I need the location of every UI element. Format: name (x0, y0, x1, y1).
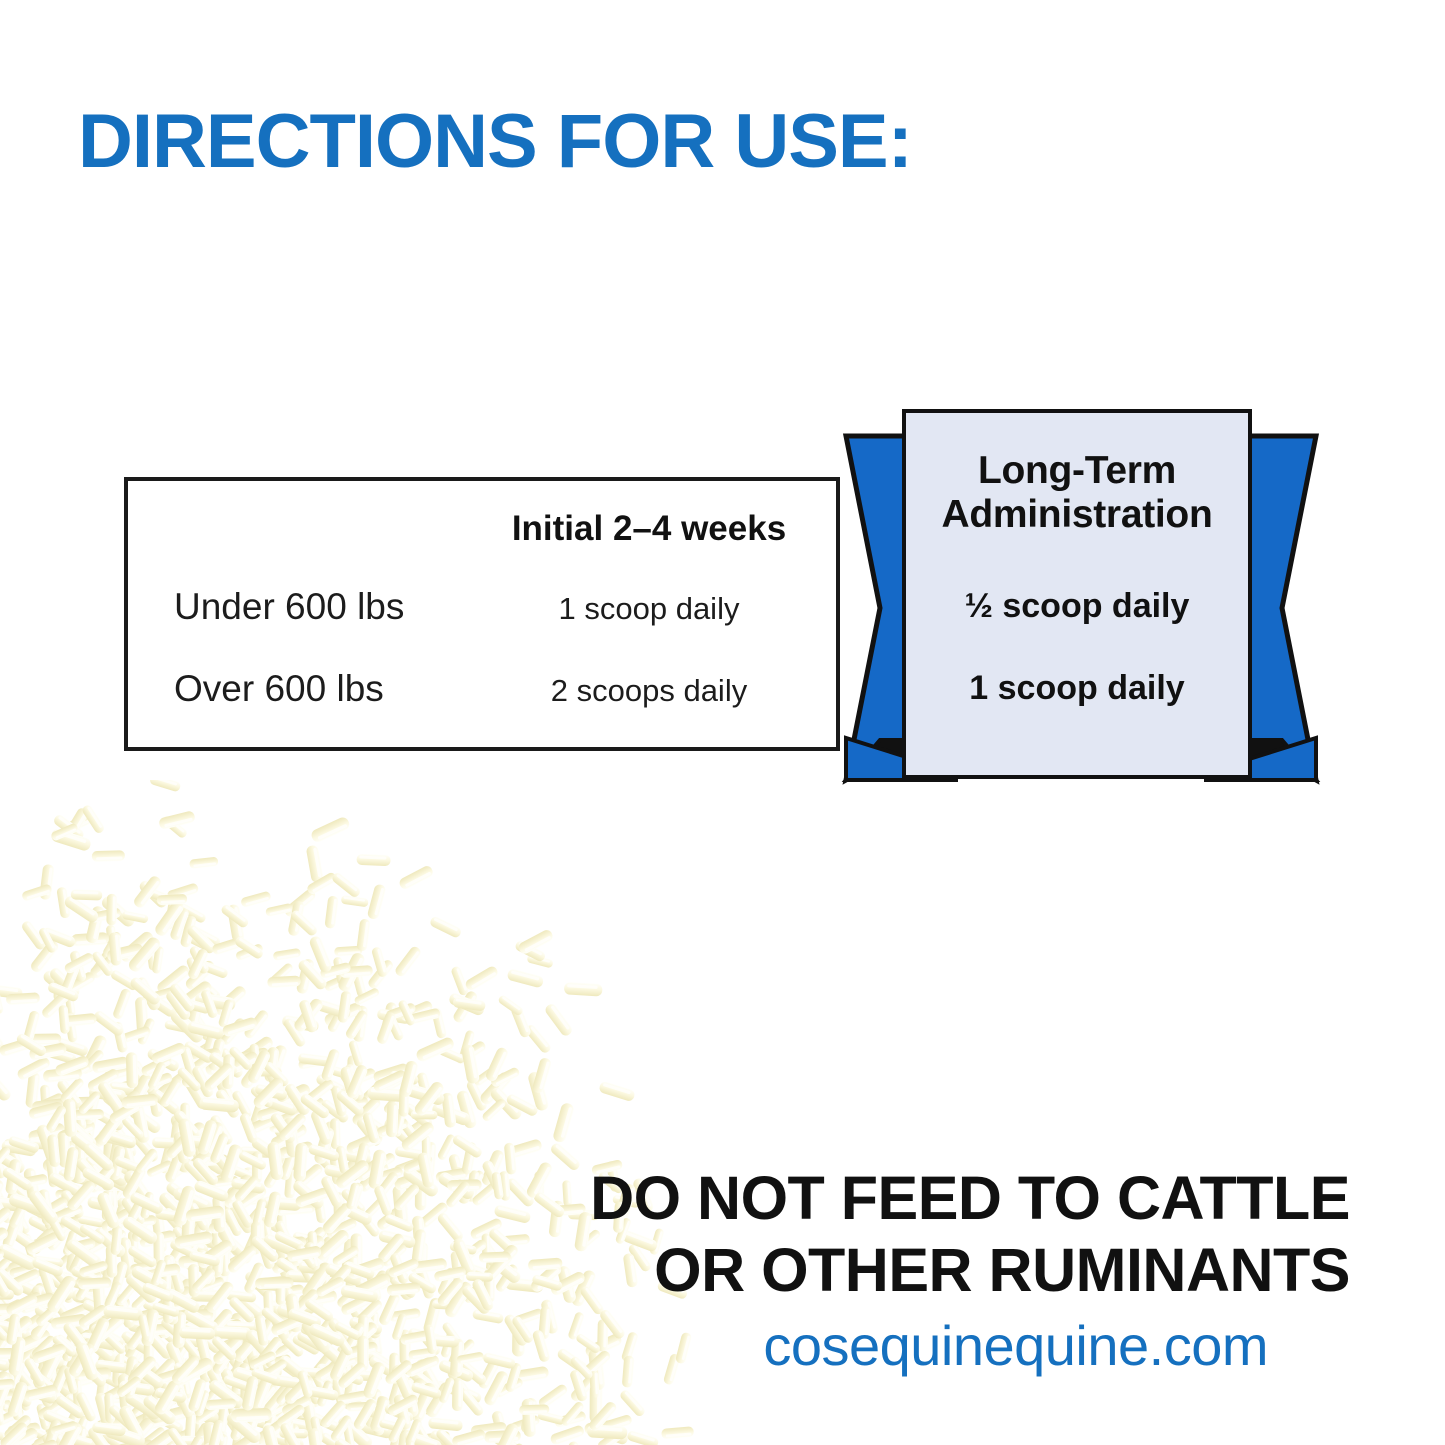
pellet (436, 1133, 456, 1161)
pellet (269, 1122, 301, 1133)
pellet (179, 1046, 198, 1080)
pellet (251, 1383, 262, 1411)
pellet (219, 1016, 247, 1046)
pellet (62, 806, 90, 843)
pellet (249, 1376, 273, 1413)
pellet (168, 982, 196, 1014)
pellet (75, 1391, 98, 1423)
pellet (200, 1120, 225, 1158)
pellet (100, 894, 137, 929)
pellet (56, 887, 71, 919)
pellet (128, 975, 162, 1006)
pellet (69, 1095, 88, 1132)
pellet (41, 926, 76, 948)
pellet (353, 987, 380, 1006)
pellet (193, 1413, 204, 1441)
pellet (292, 996, 325, 1033)
pellet (484, 1430, 521, 1444)
pellet (0, 1380, 36, 1415)
pellet (301, 1394, 319, 1433)
pellet (202, 1123, 226, 1159)
pellet (158, 1077, 183, 1109)
pellet (415, 1036, 456, 1064)
pellet (137, 1017, 157, 1046)
pellet (315, 1073, 348, 1097)
pellet (153, 1379, 182, 1417)
pellet (196, 1119, 218, 1156)
pellet (366, 958, 395, 990)
pellet (163, 1401, 206, 1424)
pellet (208, 1405, 236, 1422)
pellet (121, 1415, 157, 1445)
pellet (73, 1109, 104, 1120)
pellet (36, 1395, 69, 1421)
pellet (465, 1079, 488, 1112)
website-link[interactable]: cosequinequine.com (0, 1313, 1268, 1378)
pellet (64, 990, 76, 1017)
pellet (153, 899, 186, 938)
pellet (90, 946, 116, 977)
pellet (316, 1379, 334, 1407)
pellet (400, 1376, 420, 1418)
pellet (0, 1382, 8, 1415)
pellet (71, 889, 103, 900)
pellet (393, 945, 422, 979)
pellet (108, 1099, 143, 1126)
pellet (409, 1381, 438, 1424)
pellet (169, 1113, 193, 1151)
pellet (164, 1130, 193, 1160)
pellet (149, 985, 179, 1002)
pellet (28, 1042, 67, 1061)
pellet (171, 1120, 208, 1158)
pellet (54, 1394, 86, 1421)
pellet (80, 1034, 108, 1075)
pellet (23, 1010, 41, 1043)
pellet (422, 1135, 431, 1162)
pellet (39, 864, 55, 900)
pellet (95, 1383, 128, 1407)
pellet (0, 1430, 20, 1445)
pellet (264, 1044, 289, 1084)
pellet (41, 969, 76, 1002)
pellet (96, 1418, 124, 1430)
pellet (395, 1376, 428, 1415)
pellet (140, 1054, 173, 1078)
pellet (619, 1388, 647, 1418)
pellet (245, 1379, 279, 1417)
pellet (229, 1409, 248, 1441)
pellet (330, 871, 361, 899)
pellet (62, 1013, 97, 1027)
pellet (307, 1427, 325, 1445)
pellet (265, 1112, 292, 1146)
pellet (86, 1425, 115, 1445)
pellet (55, 1118, 96, 1145)
pellet (350, 1095, 382, 1127)
pellet (72, 1379, 82, 1407)
pellet (214, 1433, 229, 1445)
pellet (173, 1386, 195, 1419)
pellet (63, 1061, 92, 1083)
pellet (357, 1399, 390, 1415)
pellet (399, 1086, 410, 1116)
pellet (58, 1005, 70, 1034)
pellet (423, 1431, 450, 1443)
pellet (239, 1054, 271, 1091)
pellet (564, 982, 603, 997)
pellet (3, 1379, 33, 1409)
pellet (188, 945, 210, 975)
pellet (187, 1378, 207, 1413)
pellet (69, 950, 87, 983)
pellet (50, 822, 79, 841)
pellet (268, 1394, 301, 1425)
pellet (109, 1097, 144, 1111)
pellet (510, 1004, 532, 1039)
pellet (117, 1404, 146, 1444)
pellet (178, 1436, 217, 1445)
pellet (329, 1414, 353, 1443)
pellet (285, 1424, 300, 1445)
pellet (142, 989, 178, 1019)
pellet (537, 1383, 569, 1410)
pellet (262, 1060, 290, 1088)
pellet (504, 1138, 543, 1160)
pellet (143, 1435, 167, 1445)
pellet (195, 1437, 206, 1445)
pellet (478, 1424, 505, 1445)
pellet (0, 963, 1, 998)
pellet (66, 1130, 94, 1161)
pellet (104, 1423, 147, 1445)
pellet (324, 1121, 336, 1155)
pellet (396, 1429, 411, 1445)
pellet (456, 1089, 478, 1129)
pellet (339, 1065, 360, 1102)
pellet (164, 902, 177, 930)
pellet (77, 1090, 102, 1115)
pellet (251, 1076, 285, 1111)
pellet (239, 1112, 259, 1144)
pellet (116, 1439, 155, 1445)
pellet (108, 1134, 124, 1167)
pellet (240, 1411, 275, 1431)
pellet (88, 1085, 127, 1103)
pellet (236, 1404, 265, 1415)
pellet (208, 1417, 226, 1445)
pellet (63, 1392, 95, 1418)
pellet (140, 1427, 177, 1445)
pellet (369, 1395, 391, 1433)
pellet (296, 958, 328, 992)
pellet (315, 998, 352, 1020)
pellet (560, 1400, 586, 1427)
pellet (330, 1374, 349, 1408)
table-row-label-over-600: Over 600 lbs (174, 668, 384, 710)
pellet (61, 970, 96, 997)
pellet (105, 1392, 138, 1404)
pellet (203, 1380, 225, 1406)
pellet (537, 1410, 566, 1425)
pellet (190, 1046, 223, 1074)
pellet (205, 1056, 247, 1077)
pellet (104, 1393, 115, 1424)
pellet (326, 1004, 348, 1034)
pellet (184, 1412, 196, 1443)
pellet (0, 1390, 15, 1402)
pellet (61, 1097, 94, 1109)
pellet (214, 1088, 241, 1120)
pellet (139, 1412, 177, 1432)
pellet (438, 1045, 466, 1064)
pellet (6, 992, 40, 1005)
pellet (134, 975, 162, 1012)
pellet (330, 1118, 341, 1149)
pellet (249, 1043, 260, 1072)
pellet (211, 936, 245, 956)
pellet (0, 984, 23, 999)
pellet (92, 1056, 130, 1074)
pellet (52, 813, 86, 842)
pellet (92, 850, 125, 862)
pellet (408, 1007, 441, 1024)
pellet (240, 891, 272, 909)
pellet (0, 1439, 23, 1445)
pellet (187, 947, 210, 980)
pellet (129, 1059, 156, 1095)
pellet (406, 1440, 415, 1445)
pellet (337, 1390, 368, 1405)
pellet (161, 814, 189, 839)
pellet (91, 1429, 120, 1443)
pellet (372, 1069, 408, 1094)
pellet (0, 1037, 34, 1058)
pellet (132, 1401, 174, 1431)
pellet (41, 1432, 66, 1445)
pellet (63, 1117, 99, 1151)
pellet (141, 885, 171, 904)
pellet (192, 1424, 221, 1445)
pellet (115, 1375, 142, 1399)
pellet (61, 1431, 97, 1445)
pellet (267, 975, 301, 988)
pellet (239, 1146, 272, 1158)
pellet (378, 1418, 406, 1433)
pellet (126, 1052, 139, 1088)
pellet (330, 1085, 348, 1118)
pellet (222, 1054, 235, 1089)
pellet (434, 1427, 462, 1445)
pellet (552, 1102, 575, 1144)
ribbon-heading-line-1: Long-Term (978, 449, 1176, 492)
pellet (23, 1384, 59, 1403)
pellet (1, 1140, 37, 1157)
pellet (152, 946, 165, 974)
pellet (189, 1011, 214, 1042)
pellet (85, 905, 105, 944)
pellet (27, 1033, 61, 1045)
pellet (177, 1117, 196, 1157)
pellet (399, 1395, 435, 1416)
pellet (273, 948, 302, 961)
pellet (345, 1389, 382, 1420)
pellet (126, 1063, 155, 1093)
pellet (593, 1423, 629, 1445)
pellet (102, 931, 123, 958)
pellet (15, 1032, 48, 1058)
pellet (44, 1417, 57, 1445)
pellet (517, 928, 555, 956)
pellet (452, 997, 486, 1012)
pellet (73, 1129, 106, 1166)
pellet (298, 1056, 327, 1070)
pellet (324, 895, 338, 928)
pellet (213, 1429, 228, 1445)
pellet (91, 950, 115, 978)
pellet (448, 992, 486, 1017)
pellet (172, 1107, 196, 1139)
pellet (376, 1011, 397, 1045)
pellet (492, 1422, 520, 1445)
pellet (69, 1130, 106, 1163)
pellet (491, 1410, 510, 1445)
pellet (45, 1388, 58, 1421)
pellet (94, 1392, 114, 1429)
pellet (305, 1078, 336, 1106)
pellet (275, 1381, 298, 1407)
pellet (626, 1430, 659, 1445)
pellet (0, 1406, 25, 1427)
pellet (218, 1046, 245, 1079)
pellet (250, 1135, 286, 1165)
pellet (3, 1426, 40, 1445)
pellet (112, 1021, 129, 1053)
pellet (0, 1430, 2, 1445)
pellet (200, 988, 219, 1019)
pellet (235, 943, 264, 962)
pellet (0, 1426, 28, 1445)
pellet (237, 1034, 276, 1066)
pellet (121, 1025, 151, 1043)
pellet (23, 1384, 57, 1405)
pellet (344, 1009, 369, 1041)
pellet (135, 997, 149, 1034)
pellet (521, 1398, 536, 1437)
pellet (43, 1066, 83, 1083)
pellet (435, 1380, 465, 1398)
pellet (413, 1080, 446, 1118)
pellet (146, 943, 158, 971)
pellet (454, 1039, 487, 1065)
pellet (0, 1398, 3, 1427)
pellet (102, 1430, 133, 1445)
pellet (599, 1414, 633, 1433)
pellet (265, 903, 293, 917)
pellet (271, 1082, 312, 1110)
pellet (490, 1066, 521, 1088)
pellet (0, 1067, 13, 1103)
pellet (448, 1438, 483, 1445)
pellet (269, 1111, 298, 1145)
pellet (172, 1109, 202, 1142)
ribbon-dose-under-600: ½ scoop daily (906, 587, 1248, 626)
pellet (289, 909, 319, 938)
pellet (319, 962, 351, 980)
pellet (394, 1145, 427, 1160)
pellet (38, 927, 58, 955)
pellet (2, 1413, 33, 1441)
pellet (118, 929, 156, 964)
pellet (531, 1057, 552, 1094)
pellet (271, 1432, 305, 1445)
pellet (412, 1421, 433, 1445)
pellet (0, 1378, 15, 1391)
pellet (241, 1375, 259, 1411)
pellet (282, 1017, 307, 1048)
pellet (269, 962, 295, 986)
pellet (249, 1085, 274, 1109)
pellet (336, 1414, 375, 1445)
pellet (107, 1122, 138, 1160)
pellet (107, 1403, 138, 1432)
pellet (309, 1108, 333, 1146)
pellet (251, 1398, 289, 1425)
pellet (306, 871, 338, 896)
dosage-table: Initial 2–4 weeks Under 600 lbs 1 scoop … (124, 477, 840, 751)
pellet (100, 1417, 135, 1429)
pellet (155, 963, 192, 996)
pellet (175, 1128, 211, 1157)
pellet (319, 1399, 348, 1430)
pellet (283, 1373, 316, 1406)
pellet (63, 1098, 78, 1137)
pellet (284, 1416, 294, 1445)
pellet (310, 1416, 324, 1444)
pellet (125, 1072, 154, 1112)
pellet (386, 1428, 406, 1445)
pellet (187, 1020, 225, 1040)
pellet (79, 1048, 105, 1075)
pellet (276, 1415, 314, 1435)
pellet (207, 1378, 246, 1411)
pellet (500, 1434, 531, 1445)
pellet (184, 1408, 219, 1424)
pellet (6, 1380, 28, 1418)
pellet (35, 1123, 59, 1163)
pellet (29, 939, 61, 975)
pellet (524, 1023, 553, 1055)
pellet (128, 1403, 160, 1443)
pellet (81, 804, 106, 835)
pellet (429, 1428, 463, 1445)
pellet (111, 1376, 139, 1400)
pellet (120, 1115, 145, 1140)
pellet (126, 935, 162, 974)
table-column-header-initial: Initial 2–4 weeks (484, 509, 814, 549)
pellet (389, 1070, 419, 1085)
pellet (53, 1036, 89, 1057)
pellet (54, 1055, 90, 1078)
pellet (277, 1112, 308, 1143)
pellet (97, 1128, 137, 1150)
pellet (333, 1436, 366, 1445)
pellet (189, 925, 222, 949)
pellet (428, 1417, 463, 1431)
pellet (72, 1425, 87, 1445)
pellet (181, 1425, 211, 1445)
pellet (208, 1419, 225, 1445)
